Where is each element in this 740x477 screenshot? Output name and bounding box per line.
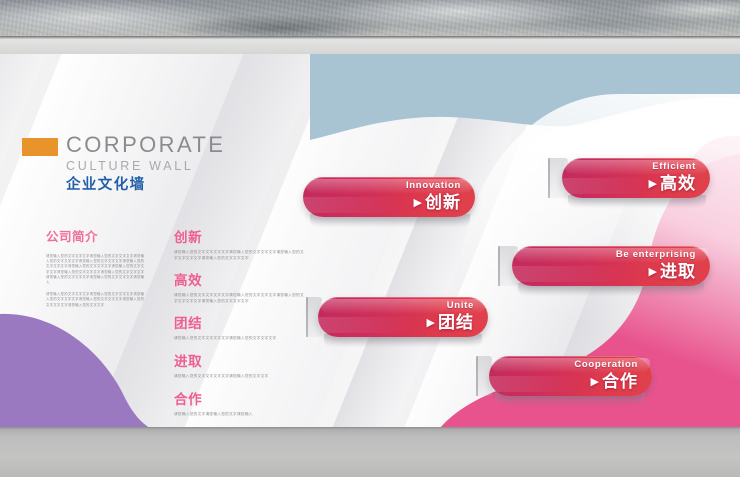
company-profile-column: 公司简介 请您输入您的文字文字文字请您输入您的文字文字文字请您输入您的文字文字文… xyxy=(46,226,146,308)
banner-label-cn-text: 合作 xyxy=(602,372,638,391)
list-item: 合作 请您输入您的文字请您输入您的文字请您输入 xyxy=(174,388,306,418)
value-heading: 高效 xyxy=(174,269,306,289)
banner-label-en: Be enterprising xyxy=(616,250,696,260)
culture-wall-mockup: CORPORATE CULTURE WALL 企业文化墙 公司简介 请您输入您的… xyxy=(0,0,740,477)
banner-tail-edge xyxy=(476,356,478,396)
purple-blob-decoration xyxy=(0,298,180,428)
value-body: 请您输入您的文字请您输入您的文字请您输入 xyxy=(174,412,306,418)
value-body: 请您输入您的文字文字文字文字请您输入您的文字文字文字请您输入您的文字文字文字文字… xyxy=(174,250,306,261)
banner-label-en: Unite xyxy=(427,301,474,311)
value-heading: 团结 xyxy=(174,312,306,332)
banner-innovation[interactable]: Innovation ▶创新 xyxy=(303,177,475,217)
banner-label-cn: ▶团结 xyxy=(427,314,474,331)
logo-block: CORPORATE CULTURE WALL 企业文化墙 xyxy=(22,134,282,192)
list-item: 高效 请您输入您的文字文字文字文字请您输入您的文字文字文字请您输入您的文字文字文… xyxy=(174,269,306,304)
value-body: 请您输入您的文字文字文字文字请您输入您的文字文字文字 xyxy=(174,336,306,342)
company-profile-heading: 公司简介 xyxy=(46,226,146,245)
list-item: 团结 请您输入您的文字文字文字文字请您输入您的文字文字文字 xyxy=(174,312,306,342)
banner-text: Be enterprising ▶进取 xyxy=(616,250,696,280)
banner-text: Unite ▶团结 xyxy=(427,301,474,331)
value-body: 请您输入您的文字文字文字文字请您输入您的文字文字文字请您输入您的文字文字文字文字… xyxy=(174,293,306,304)
triangle-icon: ▶ xyxy=(649,266,658,278)
banner-label-cn: ▶创新 xyxy=(406,194,461,211)
banner-label-cn-text: 高效 xyxy=(660,174,696,193)
banner-efficient[interactable]: Efficient ▶高效 xyxy=(562,158,710,198)
banner-label-cn: ▶高效 xyxy=(649,175,696,192)
logo-subtitle-en: CULTURE WALL xyxy=(66,160,282,173)
wall-panel: CORPORATE CULTURE WALL 企业文化墙 公司简介 请您输入您的… xyxy=(0,54,740,428)
banner-label-en: Innovation xyxy=(406,181,461,191)
banner-label-en: Cooperation xyxy=(574,360,638,370)
banner-text: Efficient ▶高效 xyxy=(649,162,696,192)
values-list-column: 创新 请您输入您的文字文字文字文字请您输入您的文字文字文字请您输入您的文字文字文… xyxy=(174,226,306,425)
company-profile-paragraph-2: 请您输入您的文字文字文字请您输入您的文字文字文字请您输入您的文字文字文字请您输入… xyxy=(46,292,146,308)
floor-surface xyxy=(0,429,740,477)
banner-label-cn: ▶合作 xyxy=(574,373,638,390)
banner-label-cn-text: 创新 xyxy=(425,193,461,212)
logo-title-en: CORPORATE xyxy=(66,134,282,156)
ceiling-grain xyxy=(0,0,740,38)
upper-wall-strip xyxy=(0,39,740,54)
banner-text: Innovation ▶创新 xyxy=(406,181,461,211)
triangle-icon: ▶ xyxy=(414,197,423,209)
logo-title-cn: 企业文化墙 xyxy=(66,178,282,193)
banner-label-cn: ▶进取 xyxy=(616,263,696,280)
banner-text: Cooperation ▶合作 xyxy=(574,360,638,390)
banner-tail-edge xyxy=(498,246,500,286)
triangle-icon: ▶ xyxy=(649,178,658,190)
banner-label-cn-text: 团结 xyxy=(438,313,474,332)
company-profile-paragraph-1: 请您输入您的文字文字文字请您输入您的文字文字文字请您输入您的文字文字文字请您输入… xyxy=(46,254,146,285)
list-item: 进取 请您输入您的文字文字文字文字请您输入您的文字文字 xyxy=(174,350,306,380)
banner-cooperation[interactable]: Cooperation ▶合作 xyxy=(489,356,652,396)
list-item: 创新 请您输入您的文字文字文字文字请您输入您的文字文字文字请您输入您的文字文字文… xyxy=(174,226,306,261)
value-body: 请您输入您的文字文字文字文字请您输入您的文字文字 xyxy=(174,374,306,380)
ceiling-texture xyxy=(0,0,740,38)
triangle-icon: ▶ xyxy=(591,376,600,388)
value-heading: 进取 xyxy=(174,350,306,370)
value-heading: 创新 xyxy=(174,226,306,246)
banner-be-enterprising[interactable]: Be enterprising ▶进取 xyxy=(512,246,710,286)
banner-label-cn-text: 进取 xyxy=(660,262,696,281)
banner-unite[interactable]: Unite ▶团结 xyxy=(318,297,488,337)
logo-orange-bar xyxy=(22,138,58,156)
banner-tail-edge xyxy=(548,158,550,198)
value-heading: 合作 xyxy=(174,388,306,408)
triangle-icon: ▶ xyxy=(427,317,436,329)
banner-label-en: Efficient xyxy=(649,162,696,172)
banner-tail-edge xyxy=(306,297,308,337)
